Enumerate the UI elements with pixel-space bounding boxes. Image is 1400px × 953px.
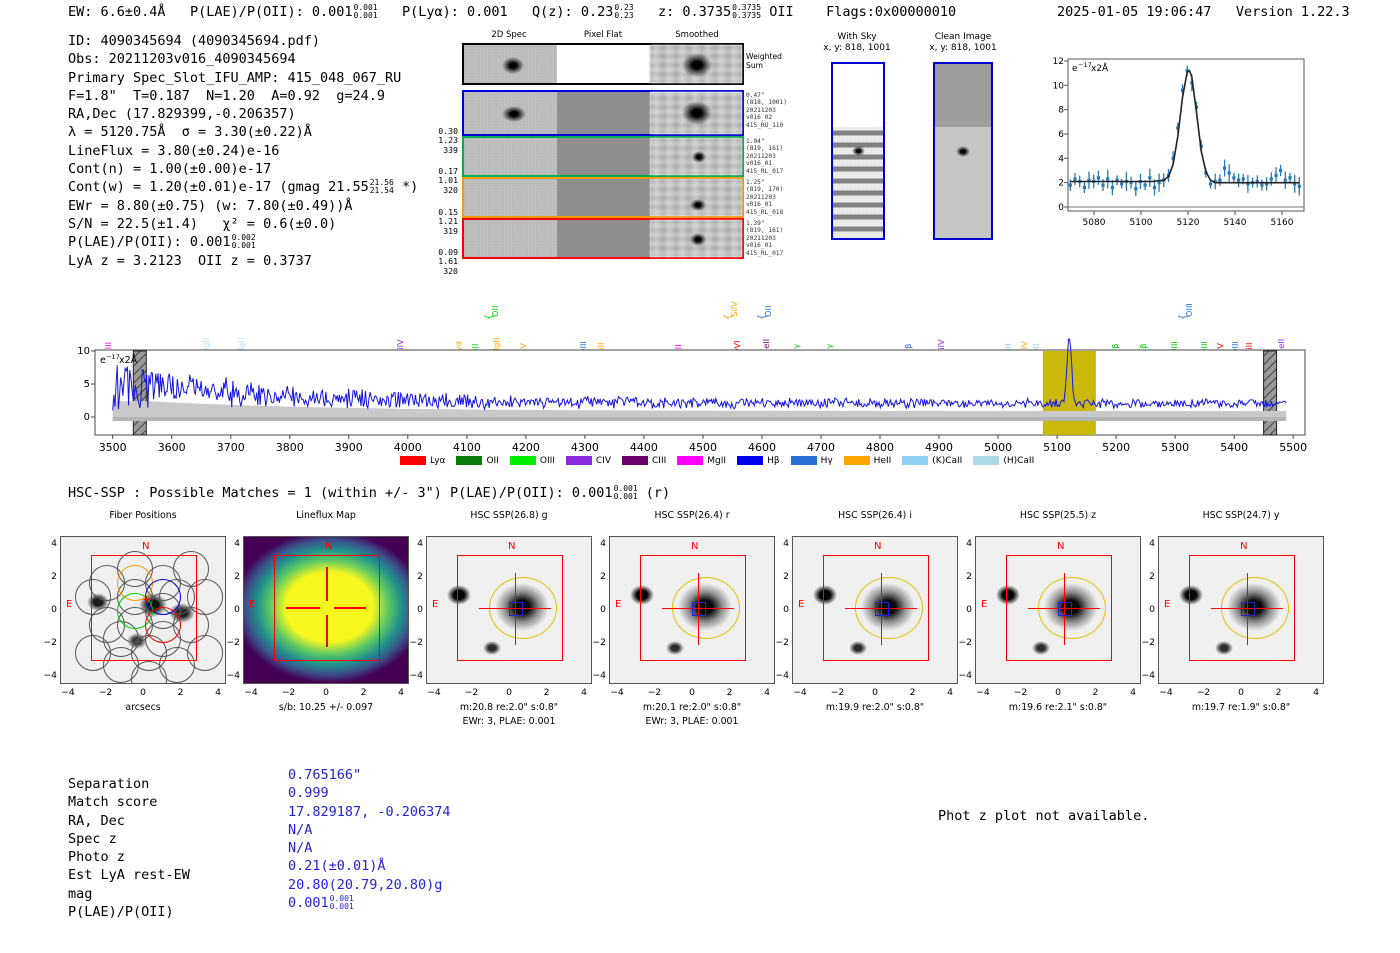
cutout-ytick: −2 [592, 637, 606, 648]
value-mag: 20.80(20.79,20.80)g [288, 876, 451, 894]
legend-swatch [902, 456, 928, 465]
legend-swatch [622, 456, 648, 465]
cleanimage-title: Clean Imagex, y: 818, 1001 [915, 32, 1011, 54]
legend-swatch [677, 456, 703, 465]
cutout-caption1-5: m:19.6 re:2.1" s:0.8" [951, 702, 1165, 713]
label-mag: mag [68, 885, 190, 903]
cutout-title-3: HSC SSP(26.4) r [589, 510, 795, 521]
svg-text:3500: 3500 [99, 441, 127, 454]
compass-n: N [1240, 541, 1247, 552]
cutout-caption2-3: EWr: 3, PLAE: 0.001 [585, 716, 799, 727]
spec2d-title-smoothed: Smoothed [650, 30, 744, 40]
cutout-ytick: 4 [226, 538, 240, 549]
svg-text:0: 0 [84, 412, 90, 423]
cutout-caption1-2: m:20.8 re:2.0" s:0.8" [402, 702, 616, 713]
withsky-image [831, 62, 885, 240]
info-sn-chi2: S/N = 22.5(±1.4) χ² = 0.6(±0.0) [68, 215, 418, 233]
cutout-panel-row: Fiber Positions420−2−4−4−2024+NEarcsecsL… [0, 510, 1400, 725]
cutout-xtick: 2 [1088, 687, 1104, 698]
cutout-ytick: 0 [958, 604, 972, 615]
value-photo-z: N/A [288, 839, 451, 857]
value-est-lya-rest-ew: 0.21(±0.01)Å [288, 857, 451, 875]
svg-text:12: 12 [1053, 57, 1064, 67]
info-wavelength-sigma: λ = 5120.75Å σ = 3.30(±0.22)Å [68, 123, 418, 141]
cutout-xtick: 2 [722, 687, 738, 698]
cutout-ytick: 2 [958, 571, 972, 582]
legend-label: OII [486, 456, 498, 466]
cutout-title-0: Fiber Positions [40, 510, 246, 521]
photoz-unavailable-message: Phot z plot not available. [938, 808, 1149, 824]
label-est-lya-rest-ew: Est LyA rest-EW [68, 866, 190, 884]
cutout-xtick: −2 [830, 687, 846, 698]
cutout-ytick: 4 [592, 538, 606, 549]
full-spectrum-svg: 1050 35003600370038003900400041004200430… [0, 270, 1400, 470]
match-details-labels: Separation Match score RA, Dec Spec z Ph… [68, 775, 190, 921]
cutout-xtick: 0 [1050, 687, 1066, 698]
cutout-ytick: 2 [43, 571, 57, 582]
info-ewr: EWr = 8.80(±0.75) (w: 7.80(±0.49))Å [68, 197, 418, 215]
cutout-ytick: −4 [409, 670, 423, 681]
cutout-caption1-0: arcsecs [36, 702, 250, 713]
source-info-block: ID: 4090345694 (4090345694.pdf) Obs: 202… [68, 32, 418, 270]
legend-label: MgII [707, 456, 726, 466]
value-plae-poii: 0.0010.0010.001 [288, 894, 451, 912]
spec2d-strip-2 [462, 136, 744, 177]
cutout-xtick: −2 [647, 687, 663, 698]
cutout-ytick: 4 [43, 538, 57, 549]
compass-n: N [691, 541, 698, 552]
info-radec: RA,Dec (17.829399,-0.206357) [68, 105, 418, 123]
legend-label: OIII [540, 456, 555, 466]
cutout-ytick: −2 [1141, 637, 1155, 648]
svg-text:5200: 5200 [1102, 441, 1130, 454]
label-photo-z: Photo z [68, 848, 190, 866]
info-cont-n: Cont(n) = 1.00(±0.00)e-17 [68, 160, 418, 178]
legend-label: Lyα [430, 456, 445, 466]
svg-text:5140: 5140 [1224, 218, 1247, 228]
zoomed-line-plot: 12108 642 0 508051005120 51405160 e −17 [1040, 55, 1308, 235]
cutout-caption1-3: m:20.1 re:2.0" s:0.8" [585, 702, 799, 713]
cutout-xtick: 0 [867, 687, 883, 698]
header-z-kind: OII [769, 4, 793, 20]
legend-label: CIII [652, 456, 666, 466]
label-spec-z: Spec z [68, 830, 190, 848]
cutout-xtick: −4 [426, 687, 442, 698]
cutout-ytick: 4 [958, 538, 972, 549]
spectrum-legend: LyαOIIOIIICIVCIIIMgIIHβHγHeII(K)CaII(H)C… [400, 450, 1045, 469]
cutout-caption1-4: m:19.9 re:2.0" s:0.8" [768, 702, 982, 713]
info-plae: P(LAE)/P(OII): 0.0010.0020.001 [68, 233, 418, 251]
cutout-ytick: 4 [1141, 538, 1155, 549]
full-spectrum-panel: {CIII{MgII{MgII{SiIV{Lyα{OII{OII{MgII{NV… [0, 270, 1400, 470]
compass-n: N [142, 541, 149, 552]
legend-label: (H)CaII [1003, 456, 1034, 466]
legend-label: CIV [596, 456, 611, 466]
spec2d-strip-4-meta: 1.39"(819, 161) 20211203v016_01 415_RL_0… [746, 220, 816, 257]
legend-label: Hγ [821, 456, 833, 466]
legend-swatch [400, 456, 426, 465]
spec2d-title-pixelflat: Pixel Flat [556, 30, 650, 40]
cutout-xtick: 0 [318, 687, 334, 698]
cutout-xtick: 4 [1125, 687, 1141, 698]
cutout-ytick: 2 [226, 571, 240, 582]
header-plya: P(Lyα): 0.001 [402, 4, 508, 20]
withsky-title: With Skyx, y: 818, 1001 [813, 32, 901, 54]
spec2d-strip-1 [462, 90, 744, 136]
cutout-xtick: 4 [576, 687, 592, 698]
svg-text:8: 8 [1058, 106, 1064, 116]
spec2d-strip-3 [462, 177, 744, 218]
cutout-ytick: 0 [1141, 604, 1155, 615]
cutout-title-1: Lineflux Map [223, 510, 429, 521]
svg-text:5: 5 [84, 379, 90, 390]
svg-text:3600: 3600 [158, 441, 186, 454]
cutout-xtick: 0 [1233, 687, 1249, 698]
svg-text:5300: 5300 [1161, 441, 1189, 454]
cutout-caption2-2: EWr: 3, PLAE: 0.001 [402, 716, 616, 727]
cutout-ytick: −4 [592, 670, 606, 681]
spec2d-strip-1-meta: 0.47"(818, 1001) 20211203v016_02 415_RU_… [746, 92, 816, 129]
cutout-ytick: 2 [592, 571, 606, 582]
cutout-image-3[interactable] [609, 536, 775, 684]
info-seeing-params: F=1.8" T=0.187 N=1.20 A=0.92 g=24.9 [68, 87, 418, 105]
legend-item-OIII: OIII [510, 456, 555, 466]
info-cont-w: Cont(w) = 1.20(±0.01)e-17 (gmag 21.5521.… [68, 178, 418, 196]
spec2d-panel-group: 2D Spec Pixel Flat Smoothed Weighted Sum… [424, 30, 814, 260]
compass-e: E [1164, 599, 1170, 610]
cutout-title-4: HSC SSP(26.4) i [772, 510, 978, 521]
cutout-xtick: −4 [792, 687, 808, 698]
header-plae: P(LAE)/P(OII): 0.001 [190, 4, 353, 20]
cutout-xtick: 4 [1308, 687, 1324, 698]
cutout-ytick: −4 [226, 670, 240, 681]
cutout-xtick: 2 [539, 687, 555, 698]
svg-text:10: 10 [1053, 81, 1065, 91]
cutout-xtick: 4 [942, 687, 958, 698]
legend-swatch [456, 456, 482, 465]
cutout-ytick: −2 [43, 637, 57, 648]
cutout-xtick: 2 [173, 687, 189, 698]
cutout-ytick: 4 [409, 538, 423, 549]
info-redshifts: LyA z = 3.2123 OII z = 0.3737 [68, 252, 418, 270]
header-summary-line: EW: 6.6±0.4Å P(LAE)/P(OII): 0.0010.0010.… [68, 4, 956, 20]
svg-text:2: 2 [1058, 179, 1064, 189]
cutout-caption1-6: m:19.7 re:1.9" s:0.8" [1134, 702, 1348, 713]
cutout-xtick: −4 [1158, 687, 1174, 698]
header-z: z: 0.3735 [658, 4, 731, 20]
spec2d-strip-1-values: 0.301.23339 [424, 127, 458, 155]
svg-text:x2Å: x2Å [1091, 62, 1109, 74]
svg-text:5400: 5400 [1220, 441, 1248, 454]
cutout-ytick: −4 [43, 670, 57, 681]
cutout-xtick: 0 [135, 687, 151, 698]
compass-e: E [615, 599, 621, 610]
info-primary-slot: Primary Spec_Slot_IFU_AMP: 415_048_067_R… [68, 69, 418, 87]
compass-e: E [249, 599, 255, 610]
compass-e: E [432, 599, 438, 610]
version-label: Version 1.22.3 [1236, 4, 1350, 20]
svg-text:5100: 5100 [1130, 218, 1153, 228]
legend-label: Hβ [767, 456, 780, 466]
header-flags: Flags:0x00000010 [826, 4, 956, 20]
compass-n: N [1057, 541, 1064, 552]
header-z-lo: 0.3735 [732, 12, 761, 20]
cleanimage-image [933, 62, 993, 240]
spec2d-strip-2-meta: 1.04"(819, 161) 20211203v016_01 415_RL_0… [746, 138, 816, 175]
svg-text:3800: 3800 [276, 441, 304, 454]
cutout-image-6[interactable] [1158, 536, 1324, 684]
legend-item-KCaII: (K)CaII [902, 456, 962, 466]
cutout-xtick: 4 [759, 687, 775, 698]
svg-text:−17: −17 [106, 353, 120, 361]
cutout-xtick: 2 [1271, 687, 1287, 698]
cutout-ytick: −2 [775, 637, 789, 648]
legend-label: HeII [874, 456, 892, 466]
compass-e: E [798, 599, 804, 610]
match-details-values: 0.765166" 0.999 17.829187, -0.206374 N/A… [288, 766, 451, 912]
spec2d-title-2dspec: 2D Spec [462, 30, 556, 40]
cutout-ytick: 4 [775, 538, 789, 549]
header-qz: Q(z): 0.23 [532, 4, 613, 20]
cutout-ytick: 2 [1141, 571, 1155, 582]
cutout-xtick: 4 [393, 687, 409, 698]
svg-text:5500: 5500 [1279, 441, 1307, 454]
header-plae-lo: 0.001 [354, 12, 378, 20]
value-separation: 0.765166" [288, 766, 451, 784]
info-id: ID: 4090345694 (4090345694.pdf) [68, 32, 418, 50]
spec2d-weighted-sum-label: Weighted Sum [746, 52, 782, 70]
cutout-xtick: −4 [609, 687, 625, 698]
cutout-xtick: −2 [281, 687, 297, 698]
legend-item-HeII: HeII [844, 456, 892, 466]
timestamp: 2025-01-05 19:06:47 [1057, 4, 1211, 20]
cutout-caption1-1: s/b: 10.25 +/- 0.097 [219, 702, 433, 713]
legend-item-CIII: CIII [622, 456, 666, 466]
cutout-ytick: 0 [592, 604, 606, 615]
legend-swatch [737, 456, 763, 465]
label-match-score: Match score [68, 793, 190, 811]
cutout-title-5: HSC SSP(25.5) z [955, 510, 1161, 521]
hsc-match-header: HSC-SSP : Possible Matches = 1 (within +… [68, 485, 670, 501]
cutout-xtick: −2 [98, 687, 114, 698]
cutout-xtick: −2 [1013, 687, 1029, 698]
legend-item-OII: OII [456, 456, 498, 466]
svg-text:5080: 5080 [1083, 218, 1106, 228]
value-match-score: 0.999 [288, 784, 451, 802]
cutout-ytick: −2 [409, 637, 423, 648]
zoomed-line-plot-svg: 12108 642 0 508051005120 51405160 e −17 [1040, 55, 1308, 255]
aperture-box [91, 555, 197, 661]
spec2d-strip-2-values: 0.171.01320 [424, 167, 458, 195]
cutout-ytick: 0 [226, 604, 240, 615]
label-plae-poii: P(LAE)/P(OII) [68, 903, 190, 921]
legend-swatch [566, 456, 592, 465]
cutout-title-6: HSC SSP(24.7) y [1138, 510, 1344, 521]
legend-swatch [510, 456, 536, 465]
compass-e: E [981, 599, 987, 610]
header-qz-lo: 0.23 [614, 12, 633, 20]
cutout-image-0[interactable]: + [60, 536, 226, 684]
cutout-xtick: 0 [501, 687, 517, 698]
legend-swatch [791, 456, 817, 465]
cutout-ytick: −4 [958, 670, 972, 681]
svg-text:−17: −17 [1078, 61, 1092, 69]
compass-n: N [508, 541, 515, 552]
cutout-xtick: −4 [975, 687, 991, 698]
cutout-ytick: −2 [226, 637, 240, 648]
cutout-ytick: 0 [43, 604, 57, 615]
header-ew: EW: 6.6±0.4Å [68, 4, 166, 20]
spec2d-strip-weighted-sum [462, 43, 744, 85]
cutout-ytick: 2 [409, 571, 423, 582]
spec2d-strip-4 [462, 218, 744, 259]
cutout-xtick: −4 [60, 687, 76, 698]
cutout-ytick: −4 [1141, 670, 1155, 681]
cutout-xtick: 4 [210, 687, 226, 698]
svg-text:x2Å: x2Å [119, 354, 138, 366]
cutout-image-5[interactable] [975, 536, 1141, 684]
value-spec-z: N/A [288, 821, 451, 839]
cutout-xtick: −4 [243, 687, 259, 698]
svg-text:0: 0 [1058, 203, 1064, 213]
info-obs: Obs: 20211203v016_4090345694 [68, 50, 418, 68]
legend-swatch [973, 456, 999, 465]
cutout-ytick: 0 [775, 604, 789, 615]
cutout-xtick: 2 [356, 687, 372, 698]
value-radec: 17.829187, -0.206374 [288, 803, 451, 821]
compass-e: E [66, 599, 72, 610]
cutout-image-2[interactable] [426, 536, 592, 684]
svg-text:3700: 3700 [217, 441, 245, 454]
legend-item-H: Hβ [737, 456, 780, 466]
svg-text:10: 10 [77, 346, 90, 357]
label-radec: RA, Dec [68, 812, 190, 830]
header-timestamp-version: 2025-01-05 19:06:47 Version 1.22.3 [1057, 4, 1350, 20]
svg-text:6: 6 [1058, 130, 1064, 140]
legend-label: (K)CaII [932, 456, 962, 466]
cutout-xtick: 0 [684, 687, 700, 698]
cutout-xtick: −2 [464, 687, 480, 698]
cutout-image-1[interactable] [243, 536, 409, 684]
legend-swatch [844, 456, 870, 465]
cutout-xtick: −2 [1196, 687, 1212, 698]
cutout-title-2: HSC SSP(26.8) g [406, 510, 612, 521]
compass-n: N [874, 541, 881, 552]
svg-text:4: 4 [1058, 154, 1064, 164]
spec2d-strip-3-meta: 1.25"(819, 170) 20211203v016_01 415_RL_0… [746, 179, 816, 216]
legend-item-MgII: MgII [677, 456, 726, 466]
cutout-ytick: −2 [958, 637, 972, 648]
svg-text:5100: 5100 [1043, 441, 1071, 454]
legend-item-HCaII: (H)CaII [973, 456, 1034, 466]
label-separation: Separation [68, 775, 190, 793]
cutout-xtick: 2 [905, 687, 921, 698]
info-lineflux: LineFlux = 3.80(±0.24)e-16 [68, 142, 418, 160]
spec2d-strip-3-values: 0.151.21319 [424, 208, 458, 236]
svg-text:5120: 5120 [1177, 218, 1200, 228]
cutout-ytick: 0 [409, 604, 423, 615]
compass-n: N [325, 541, 332, 552]
cutout-image-4[interactable] [792, 536, 958, 684]
cutout-ytick: 2 [775, 571, 789, 582]
cutout-ytick: −4 [775, 670, 789, 681]
svg-text:3900: 3900 [335, 441, 363, 454]
legend-item-Ly: Lyα [400, 456, 445, 466]
svg-text:5160: 5160 [1271, 218, 1294, 228]
legend-item-H: Hγ [791, 456, 833, 466]
legend-item-CIV: CIV [566, 456, 611, 466]
